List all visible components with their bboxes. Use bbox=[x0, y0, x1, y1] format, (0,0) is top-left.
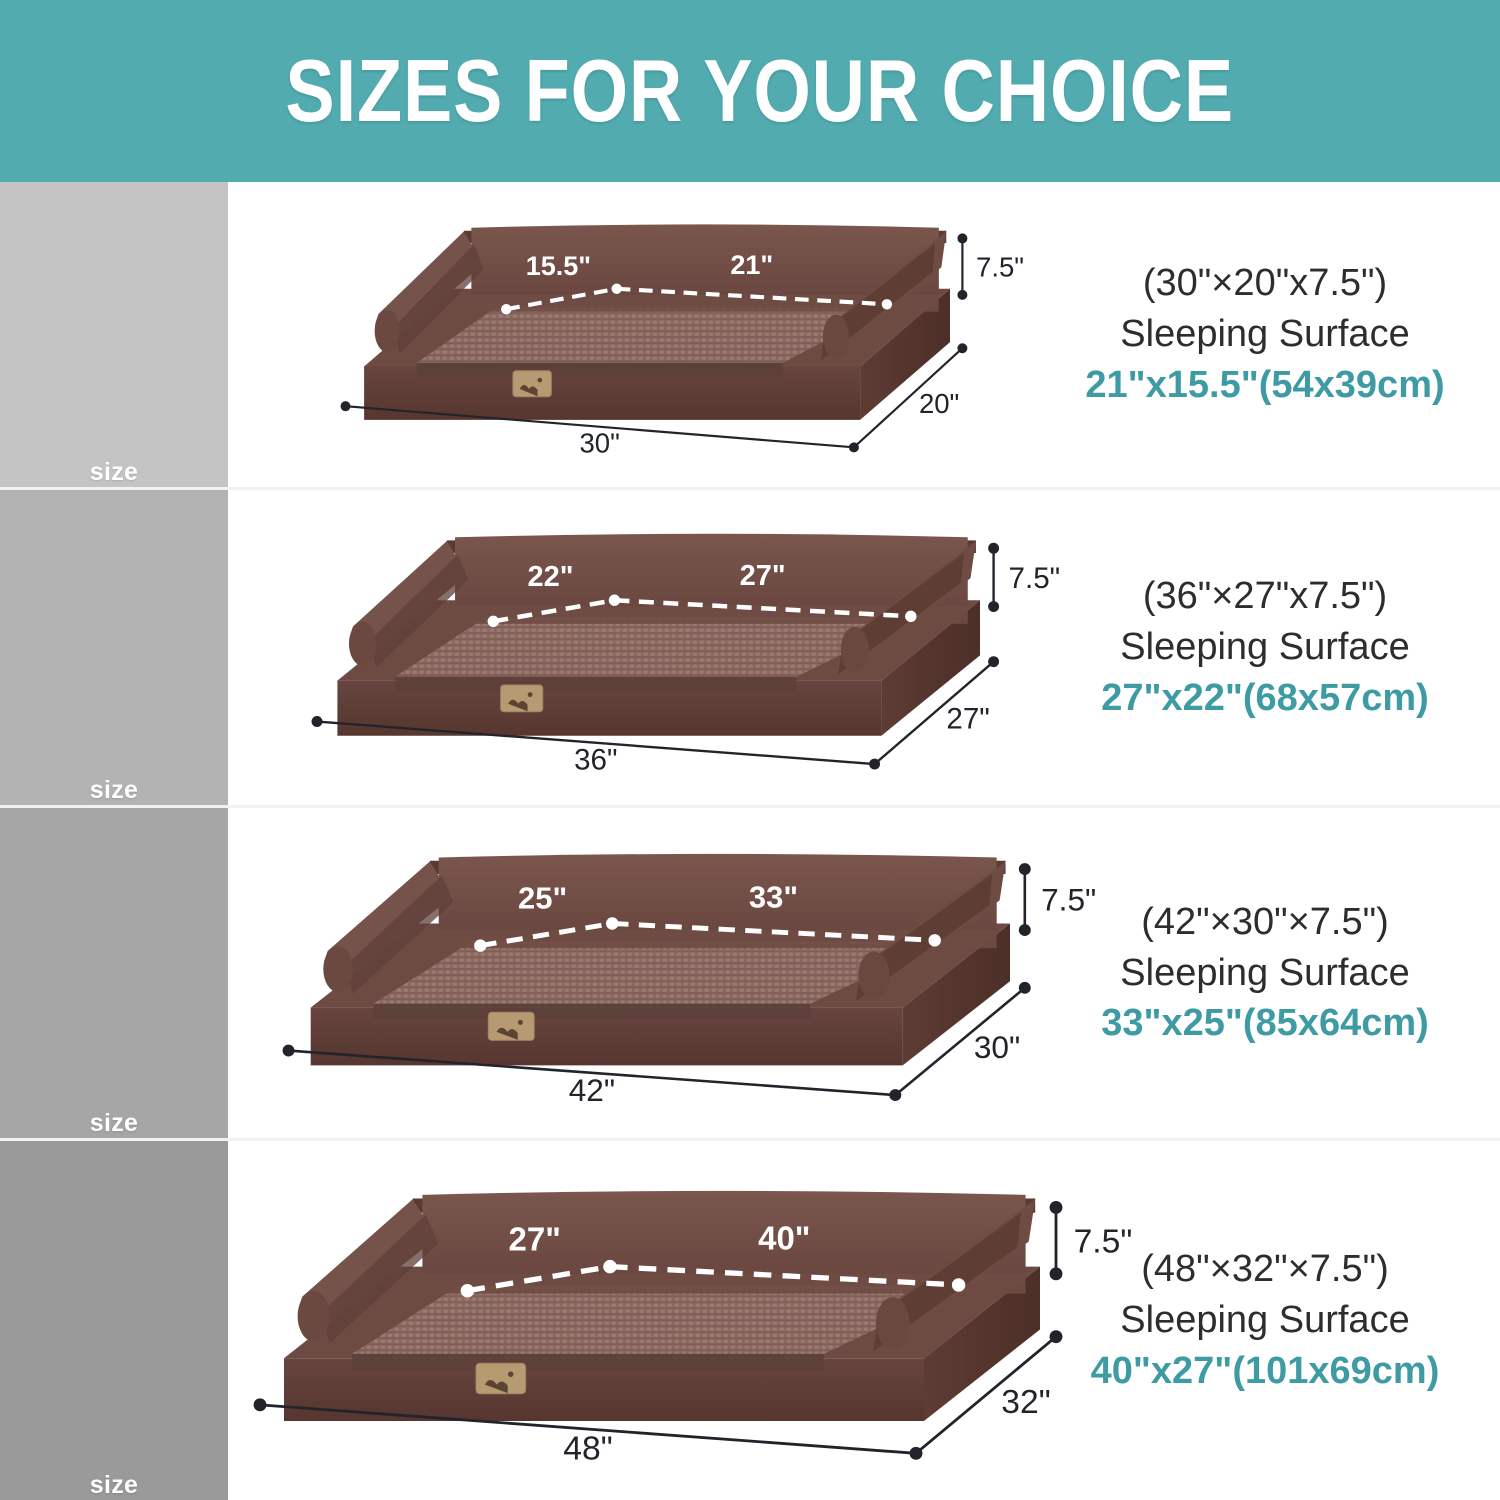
svg-text:22": 22" bbox=[527, 561, 573, 593]
size-swatch-cell-2: size bbox=[0, 490, 228, 805]
header-banner: SIZES FOR YOUR CHOICE bbox=[0, 0, 1500, 182]
size-label-4: size bbox=[90, 1471, 138, 1500]
svg-text:20": 20" bbox=[919, 388, 959, 419]
sleeping-surface-value-1: 21"x15.5"(54x39cm) bbox=[1085, 360, 1444, 411]
size-chart-page: SIZES FOR YOUR CHOICE size 15.5"21"30"20… bbox=[0, 0, 1500, 1500]
bedart0: 15.5"21"30"20"7.5" bbox=[341, 224, 1025, 458]
size-swatch-cell-1: size bbox=[0, 182, 228, 487]
sleeping-surface-label-4: Sleeping Surface bbox=[1120, 1295, 1409, 1346]
sleeping-surface-label-2: Sleeping Surface bbox=[1120, 622, 1409, 673]
size-row-medium: size 22"27"36"27"7.5" (36"×27"x7.5") Sle… bbox=[0, 490, 1500, 805]
bed-svg-4: 27"40"48"32"7.5" bbox=[240, 1141, 1040, 1500]
bedart2: 25"33"42"30"7.5" bbox=[283, 854, 1097, 1108]
size-swatch-cell-4: size bbox=[0, 1141, 228, 1500]
svg-text:27": 27" bbox=[509, 1220, 561, 1257]
overall-dimensions-4: (48"×32"×7.5") bbox=[1141, 1244, 1389, 1295]
overall-dimensions-3: (42"×30"×7.5") bbox=[1141, 897, 1389, 948]
bedart1: 22"27"36"27"7.5" bbox=[312, 534, 1061, 777]
sleeping-surface-value-2: 27"x22"(68x57cm) bbox=[1101, 673, 1429, 724]
overall-dimensions-1: (30"×20"x7.5") bbox=[1143, 258, 1387, 309]
svg-text:30": 30" bbox=[579, 428, 619, 459]
size-swatch-cell-3: size bbox=[0, 808, 228, 1138]
size-row-large: size 25"33"42"30"7.5" (42"×30"×7.5") Sle… bbox=[0, 808, 1500, 1138]
sleeping-surface-label-3: Sleeping Surface bbox=[1120, 948, 1409, 999]
bedart3: 27"40"48"32"7.5" bbox=[254, 1191, 1133, 1468]
svg-text:15.5": 15.5" bbox=[526, 251, 591, 281]
size-row-small: size 15.5"21"30"20"7.5" (30"×20"x7.5") S… bbox=[0, 182, 1500, 487]
svg-text:36": 36" bbox=[574, 744, 617, 777]
size-label-3: size bbox=[90, 1109, 138, 1138]
svg-text:25": 25" bbox=[518, 881, 567, 916]
spec-cell-3: (42"×30"×7.5") Sleeping Surface 33"x25"(… bbox=[1030, 808, 1500, 1138]
sleeping-surface-value-3: 33"x25"(85x64cm) bbox=[1101, 998, 1429, 1049]
bed-illustration-3: 25"33"42"30"7.5" bbox=[270, 808, 1010, 1138]
svg-text:30": 30" bbox=[974, 1029, 1020, 1065]
page-title: SIZES FOR YOUR CHOICE bbox=[266, 40, 1235, 142]
spec-cell-4: (48"×32"×7.5") Sleeping Surface 40"x27"(… bbox=[1030, 1141, 1500, 1500]
svg-text:27": 27" bbox=[946, 703, 989, 736]
svg-text:48": 48" bbox=[563, 1431, 612, 1468]
spec-cell-1: (30"×20"x7.5") Sleeping Surface 21"x15.5… bbox=[1030, 182, 1500, 487]
size-row-xlarge: size 27"40"48"32"7.5" (48"×32"×7.5") Sle… bbox=[0, 1141, 1500, 1500]
bed-svg-2: 22"27"36"27"7.5" bbox=[300, 490, 980, 805]
size-label-2: size bbox=[90, 776, 138, 805]
svg-text:40": 40" bbox=[758, 1219, 810, 1256]
svg-text:33": 33" bbox=[749, 880, 798, 915]
svg-text:27": 27" bbox=[740, 560, 786, 592]
bed-svg-3: 25"33"42"30"7.5" bbox=[270, 808, 1010, 1138]
overall-dimensions-2: (36"×27"x7.5") bbox=[1143, 571, 1387, 622]
bed-illustration-4: 27"40"48"32"7.5" bbox=[240, 1141, 1040, 1500]
svg-text:42": 42" bbox=[569, 1072, 615, 1108]
sleeping-surface-label-1: Sleeping Surface bbox=[1120, 309, 1409, 360]
svg-text:21": 21" bbox=[730, 250, 773, 280]
sleeping-surface-value-4: 40"x27"(101x69cm) bbox=[1091, 1346, 1440, 1397]
spec-cell-2: (36"×27"x7.5") Sleeping Surface 27"x22"(… bbox=[1030, 490, 1500, 805]
bed-svg-1: 15.5"21"30"20"7.5" bbox=[330, 182, 950, 487]
bed-illustration-2: 22"27"36"27"7.5" bbox=[300, 490, 980, 805]
bed-illustration-1: 15.5"21"30"20"7.5" bbox=[330, 182, 950, 487]
size-label-1: size bbox=[90, 458, 138, 487]
svg-text:7.5": 7.5" bbox=[976, 251, 1024, 282]
